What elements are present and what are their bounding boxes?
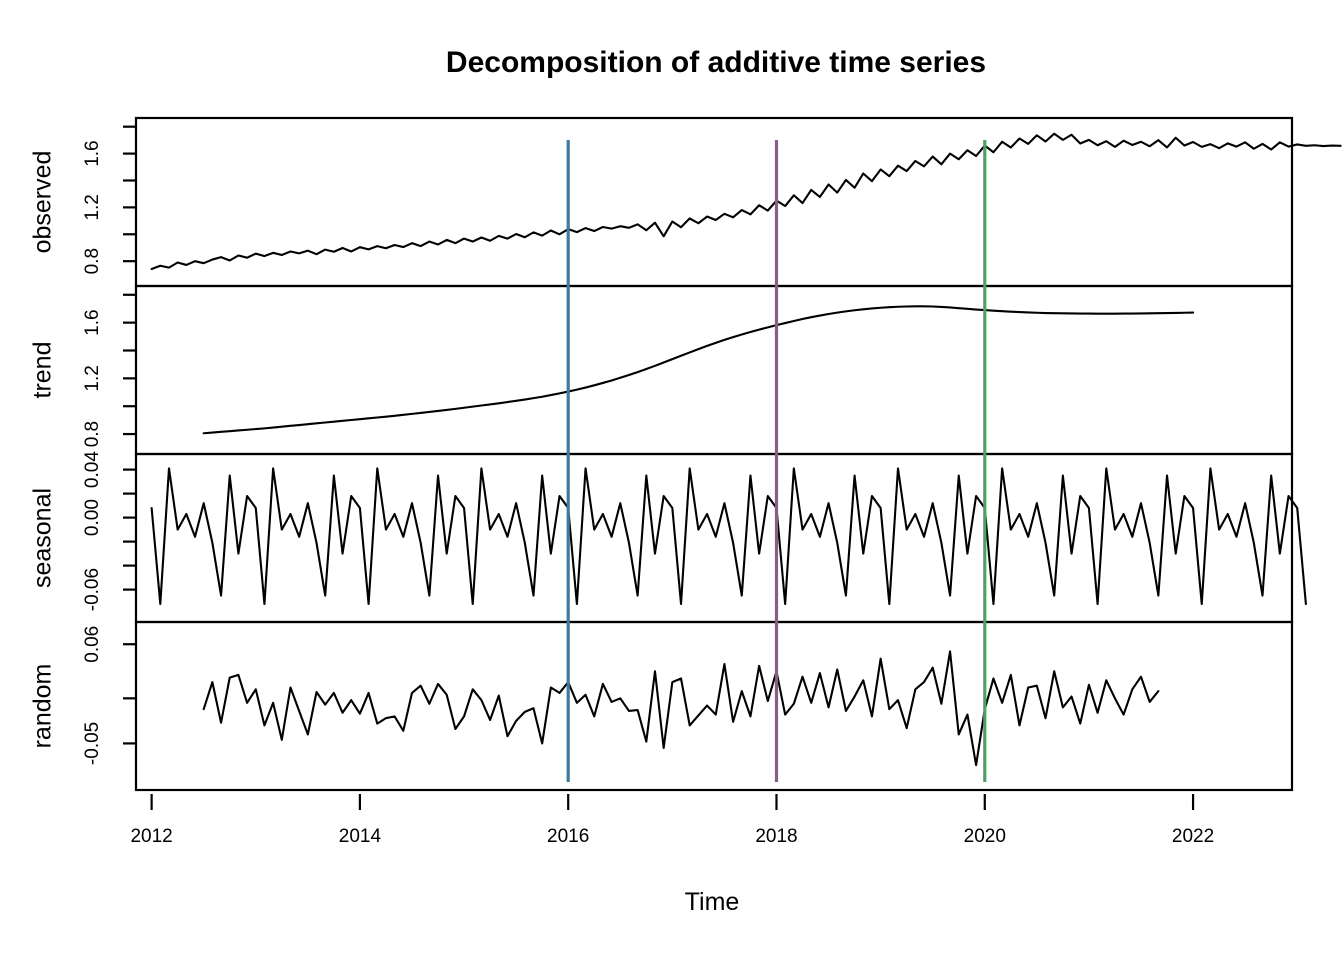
- y-tick-label-seasonal: 0.04: [82, 451, 103, 488]
- x-tick-label: 2016: [547, 826, 589, 847]
- y-tick-label-random: -0.05: [82, 722, 103, 765]
- y-tick-label-observed: 0.8: [82, 248, 103, 274]
- panel-label-trend: trend: [29, 342, 57, 399]
- y-tick-label-observed: 1.2: [82, 194, 103, 220]
- x-axis-title: Time: [685, 888, 740, 916]
- panel-label-random: random: [29, 664, 57, 749]
- plot-background: [0, 0, 1344, 960]
- page-title: Decomposition of additive time series: [446, 46, 986, 79]
- decomposition-plot: Decomposition of additive time series 0.…: [0, 0, 1344, 960]
- y-tick-label-trend: 1.6: [82, 309, 103, 335]
- y-tick-label-seasonal: 0.00: [82, 499, 103, 536]
- x-tick-label: 2020: [964, 826, 1006, 847]
- y-tick-label-seasonal: -0.06: [82, 568, 103, 611]
- y-tick-label-observed: 1.6: [82, 140, 103, 166]
- x-tick-label: 2012: [130, 826, 172, 847]
- x-tick-label: 2022: [1172, 826, 1214, 847]
- y-tick-label-trend: 1.2: [82, 365, 103, 391]
- panel-label-observed: observed: [29, 151, 57, 254]
- plot-root: Decomposition of additive time series 0.…: [0, 0, 1344, 960]
- x-tick-label: 2018: [755, 826, 797, 847]
- y-tick-label-trend: 0.8: [82, 421, 103, 447]
- y-tick-label-random: 0.06: [82, 626, 103, 663]
- x-tick-label: 2014: [339, 826, 382, 847]
- panel-label-seasonal: seasonal: [29, 488, 57, 588]
